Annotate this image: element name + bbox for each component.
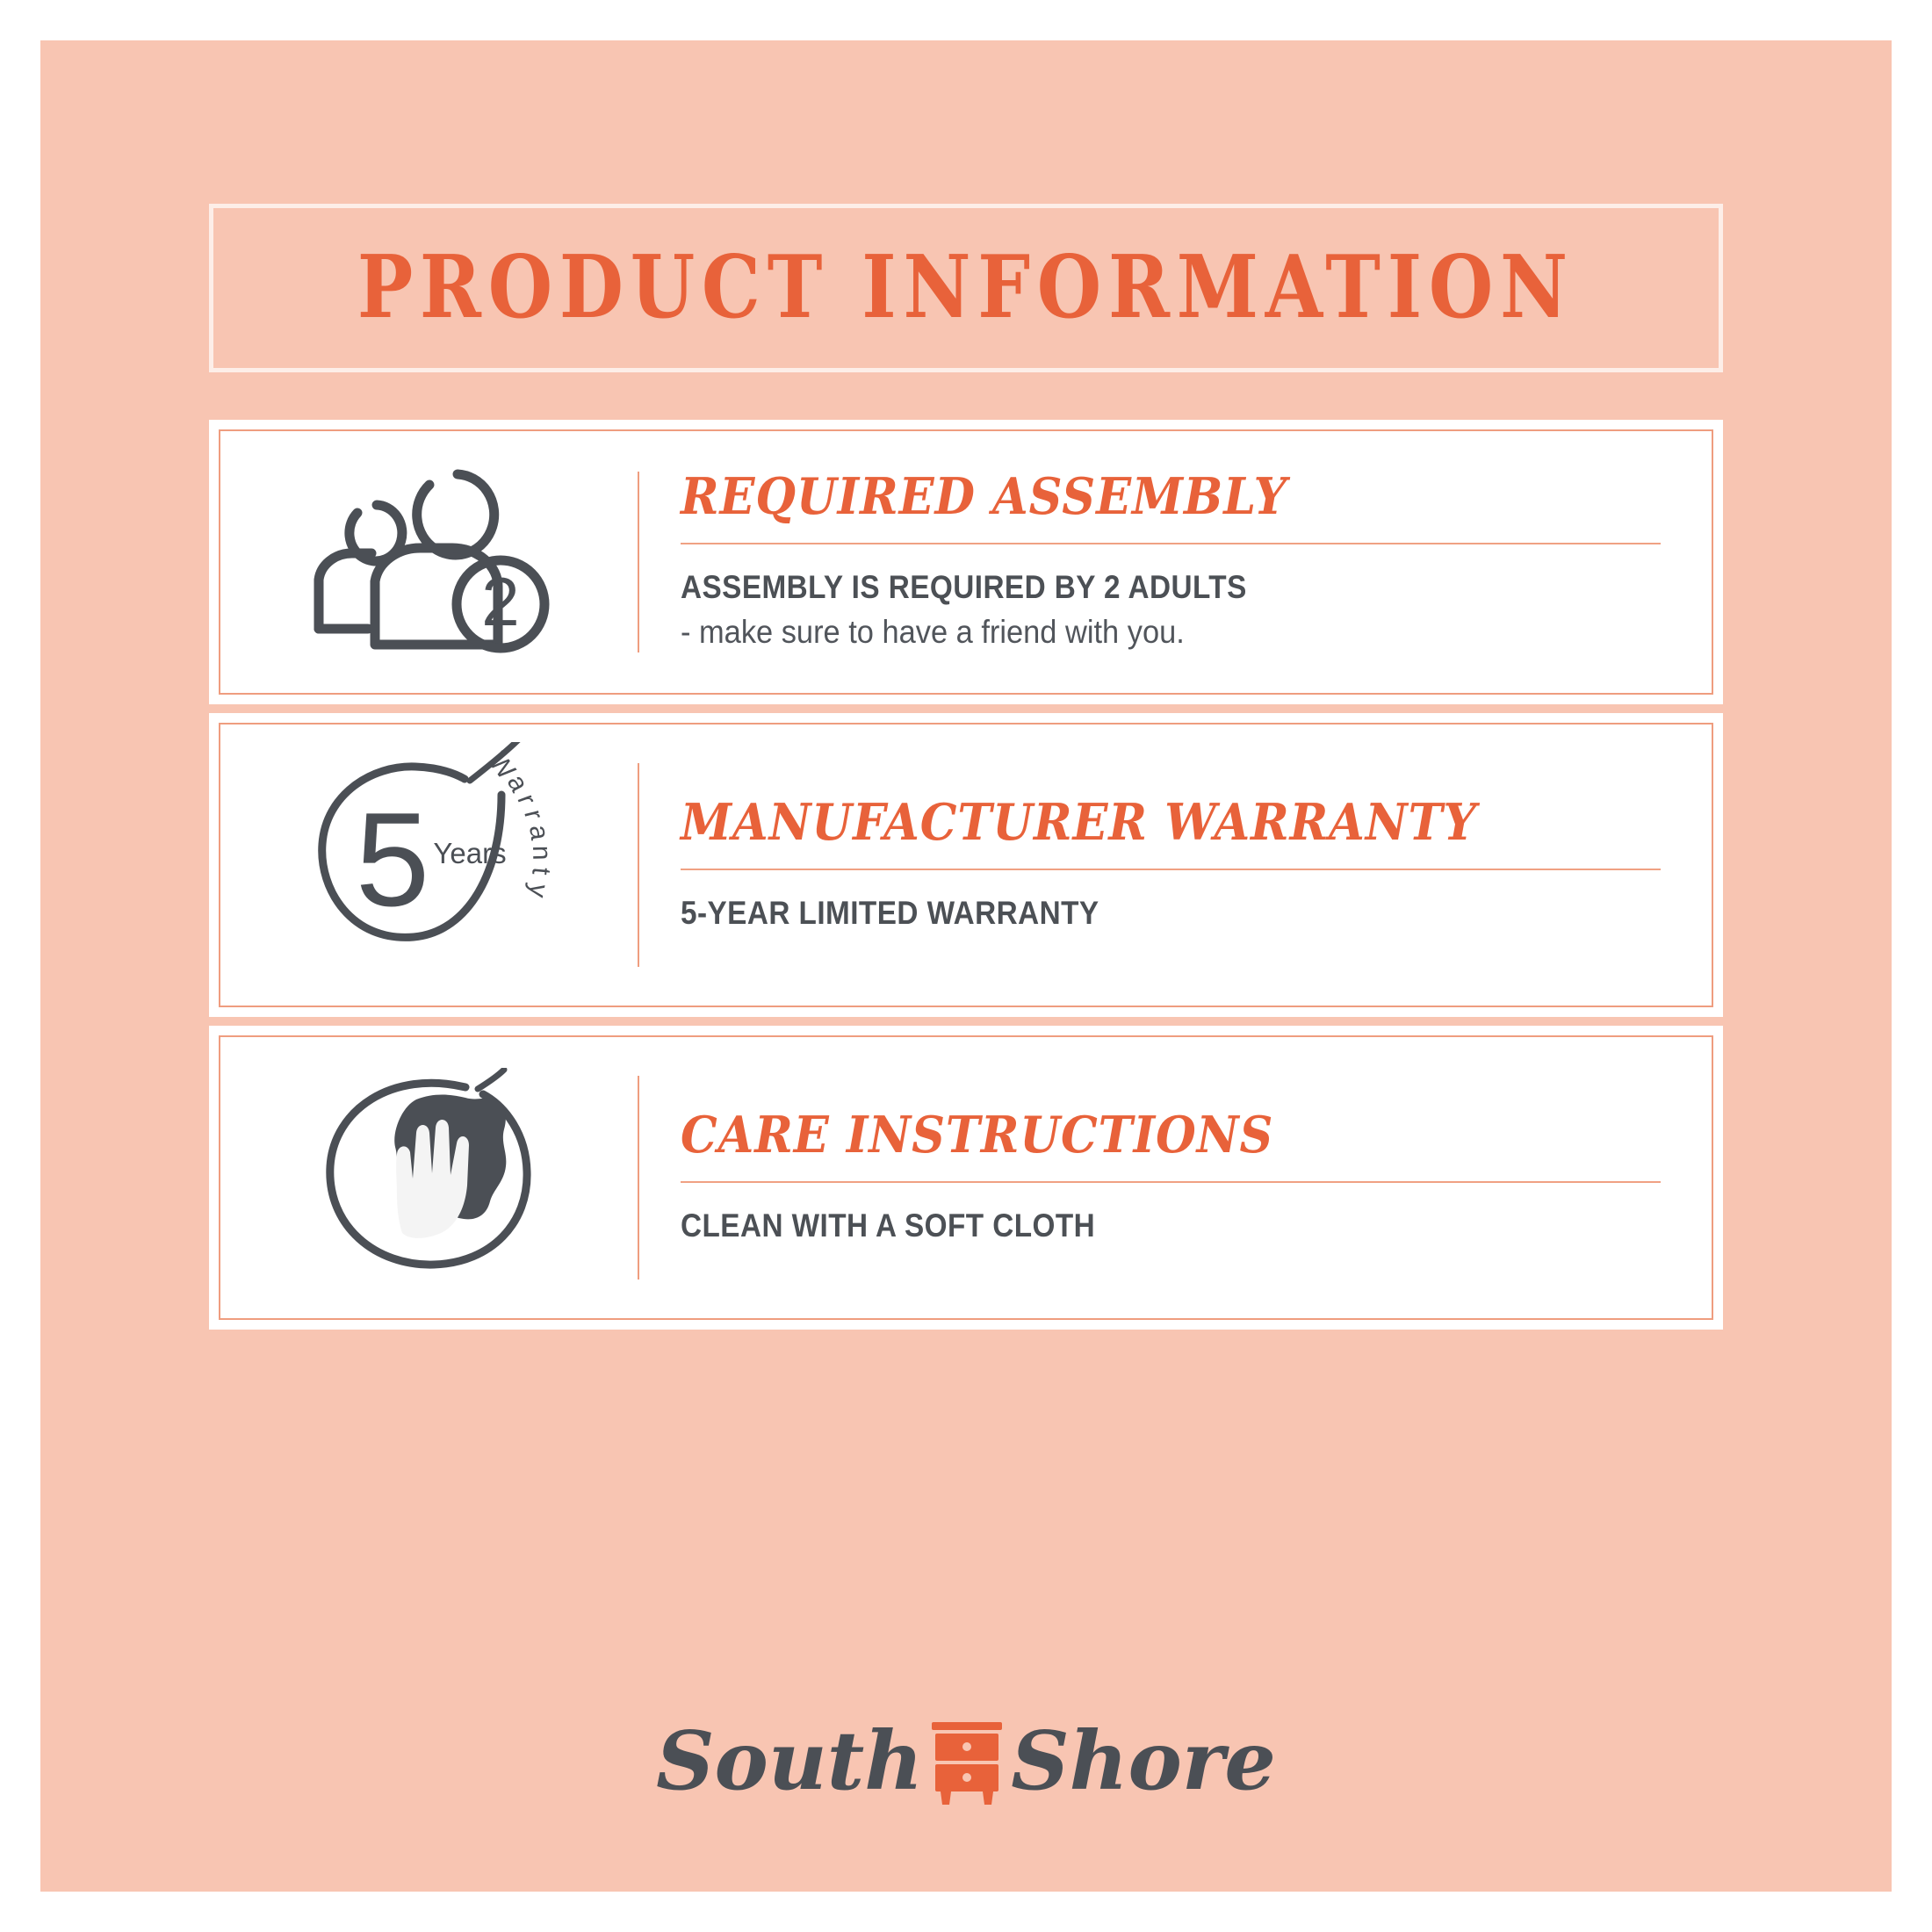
- card-body-strong: ASSEMBLY IS REQUIRED BY 2 ADULTS: [681, 567, 1562, 609]
- card-inner: 2 REQUIRED ASSEMBLY ASSEMBLY IS REQUIRED…: [219, 429, 1713, 695]
- heading-divider: [681, 869, 1661, 870]
- nightstand-icon: [928, 1717, 1006, 1805]
- poster-page: PRODUCT INFORMATION: [0, 0, 1932, 1932]
- hand-cloth-icon: [311, 1068, 548, 1287]
- card-body-light: - make sure to have a friend with you.: [681, 611, 1592, 653]
- card-body-strong: 5-YEAR LIMITED WARRANTY: [681, 893, 1562, 934]
- text-column: REQUIRED ASSEMBLY ASSEMBLY IS REQUIRED B…: [639, 471, 1712, 654]
- svg-text:t: t: [526, 866, 556, 876]
- svg-text:y: y: [523, 882, 553, 900]
- card-heading: MANUFACTURER WARRANTY: [681, 797, 1582, 849]
- brand-word-south: South: [656, 1720, 923, 1801]
- card-heading: REQUIRED ASSEMBLY: [681, 471, 1582, 523]
- page-title-box: PRODUCT INFORMATION: [209, 204, 1723, 372]
- icon-column: [220, 1037, 638, 1318]
- card-heading: CARE INSTRUCTIONS: [681, 1109, 1582, 1162]
- svg-text:r: r: [511, 790, 541, 809]
- warranty-years-number: 5: [355, 785, 429, 934]
- page-title: PRODUCT INFORMATION: [357, 245, 1575, 331]
- brand-word-shore: Shore: [1011, 1720, 1276, 1801]
- icon-badge-number: 2: [481, 563, 519, 640]
- icon-column: 5 Years W a r r a n t y: [220, 724, 638, 1006]
- icon-column: 2: [220, 431, 638, 693]
- info-card-manufacturer-warranty: 5 Years W a r r a n t y: [209, 713, 1723, 1017]
- info-card-care-instructions: CARE INSTRUCTIONS CLEAN WITH A SOFT CLOT…: [209, 1026, 1723, 1330]
- five-years-warranty-icon: 5 Years W a r r a n t y: [298, 742, 561, 988]
- svg-text:a: a: [523, 823, 554, 841]
- text-column: MANUFACTURER WARRANTY 5-YEAR LIMITED WAR…: [639, 797, 1712, 934]
- warranty-years-unit: Years: [433, 837, 506, 869]
- card-inner: CARE INSTRUCTIONS CLEAN WITH A SOFT CLOT…: [219, 1035, 1713, 1320]
- info-card-required-assembly: 2 REQUIRED ASSEMBLY ASSEMBLY IS REQUIRED…: [209, 420, 1723, 704]
- warranty-arc-label: W a r r a n t y: [482, 747, 556, 900]
- card-body-strong: CLEAN WITH A SOFT CLOTH: [681, 1206, 1562, 1247]
- text-column: CARE INSTRUCTIONS CLEAN WITH A SOFT CLOT…: [639, 1109, 1712, 1246]
- svg-text:r: r: [518, 807, 548, 823]
- svg-text:n: n: [527, 846, 556, 861]
- heading-divider: [681, 1181, 1661, 1183]
- brand-logo: South Shore: [40, 1695, 1892, 1827]
- card-inner: 5 Years W a r r a n t y: [219, 723, 1713, 1007]
- poster-canvas: PRODUCT INFORMATION: [40, 40, 1892, 1892]
- heading-divider: [681, 543, 1661, 544]
- two-people-icon: 2: [298, 465, 561, 659]
